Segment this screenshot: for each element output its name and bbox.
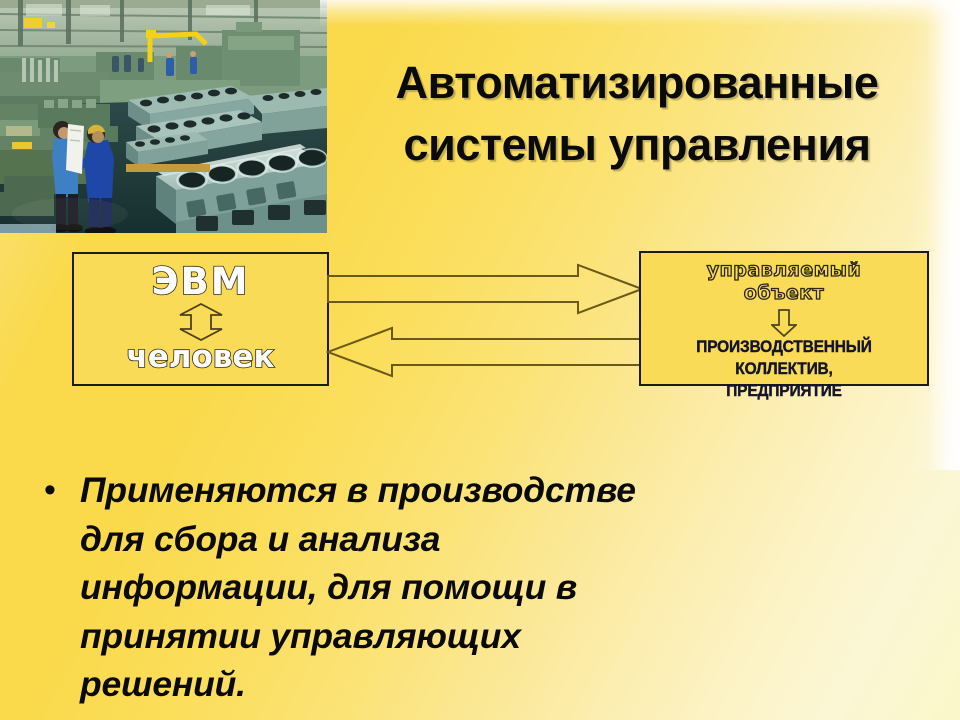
managed-object-label-line-1: управляемый	[641, 259, 927, 282]
factory-floor-photo	[0, 0, 327, 233]
double-arrow-up-down-icon	[178, 303, 224, 341]
page-title-line-2: системы управления	[330, 114, 944, 176]
chelovek-label: человек	[74, 340, 327, 374]
production-collective-label: ПРОИЗВОДСТВЕННЫЙ КОЛЛЕКТИВ, ПРЕДПРИЯТИЕ	[651, 336, 916, 402]
bullet-marker: •	[44, 466, 80, 515]
body-bullet-block: • Применяются в производстве для сбора и…	[44, 466, 924, 709]
arrow-down-icon	[771, 309, 797, 337]
managed-object-label-line-2: объект	[641, 282, 927, 305]
top-edge-highlight	[320, 0, 960, 26]
diagram-right-box: управляемый объект ПРОИЗВОДСТВЕННЫЙ КОЛЛ…	[639, 251, 929, 386]
production-collective-line-1: ПРОИЗВОДСТВЕННЫЙ КОЛЛЕКТИВ,	[651, 336, 916, 380]
list-item: • Применяются в производстве для сбора и…	[44, 466, 924, 709]
production-collective-line-2: ПРЕДПРИЯТИЕ	[651, 380, 916, 402]
diagram-connector-arrows	[326, 252, 644, 388]
page-title: Автоматизированные системы управления	[330, 52, 944, 176]
evm-label: ЭВМ	[74, 262, 327, 302]
arrow-left-feedback-signal	[328, 328, 642, 376]
page-title-line-1: Автоматизированные	[330, 52, 944, 114]
arrow-right-control-signal	[328, 265, 642, 313]
bullet-text: Применяются в производстве для сбора и а…	[80, 466, 680, 709]
diagram-left-box: ЭВМ человек	[72, 252, 329, 386]
managed-object-label: управляемый объект	[641, 259, 927, 305]
slide: Автоматизированные системы управления ЭВ…	[0, 0, 960, 720]
